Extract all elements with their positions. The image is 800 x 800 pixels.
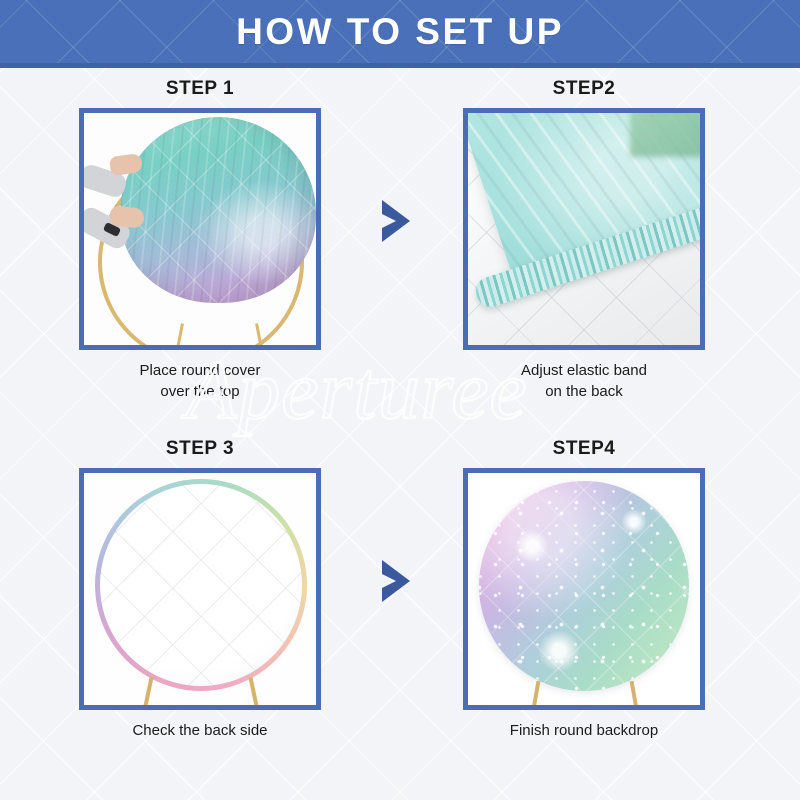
step-caption-4: Finish round backdrop <box>424 720 744 741</box>
banner-underline <box>0 63 800 68</box>
step-caption-2-line2: on the back <box>424 381 744 402</box>
step-card-2: STEP2 Adjust elastic band on the back <box>424 78 744 402</box>
page-title: HOW TO SET UP <box>0 0 800 63</box>
step-title-3: STEP 3 <box>40 438 360 462</box>
step-photo-frame-4 <box>463 468 705 710</box>
green-background-patch <box>630 113 700 157</box>
steps-grid: STEP 1 Place round cover <box>0 68 800 800</box>
photo-finished-round-backdrop <box>468 473 700 705</box>
step-caption-3-line1: Check the back side <box>40 720 360 741</box>
step-caption-4-line1: Finish round backdrop <box>424 720 744 741</box>
step-title-1: STEP 1 <box>40 78 360 102</box>
header-banner: HOW TO SET UP <box>0 0 800 68</box>
step-caption-2-line1: Adjust elastic band <box>424 360 744 381</box>
step-photo-frame-2 <box>463 108 705 350</box>
step-caption-1: Place round cover over the top <box>40 360 360 402</box>
step-caption-1-line1: Place round cover <box>40 360 360 381</box>
hand-icon <box>109 205 145 228</box>
step-photo-frame-3 <box>79 468 321 710</box>
photo-elastic-band-closeup <box>468 113 700 345</box>
finished-backdrop-disc <box>479 481 689 691</box>
chevron-right-icon <box>378 558 412 604</box>
photo-backdrop-back-side <box>84 473 316 705</box>
step-title-4: STEP4 <box>424 438 744 462</box>
step-photo-frame-1 <box>79 108 321 350</box>
step-caption-1-line2: over the top <box>40 381 360 402</box>
step-card-3: STEP 3 Check the back side <box>40 438 360 741</box>
step-card-1: STEP 1 Place round cover <box>40 78 360 402</box>
gradient-cover-fabric <box>120 117 316 303</box>
step-card-4: STEP4 Finish round backdrop <box>424 438 744 741</box>
sparkle-pattern <box>479 481 689 691</box>
photo-placing-cover-on-ring-stand <box>84 113 316 345</box>
step-title-2: STEP2 <box>424 78 744 102</box>
step-caption-2: Adjust elastic band on the back <box>424 360 744 402</box>
chevron-right-icon <box>378 198 412 244</box>
step-caption-3: Check the back side <box>40 720 360 741</box>
